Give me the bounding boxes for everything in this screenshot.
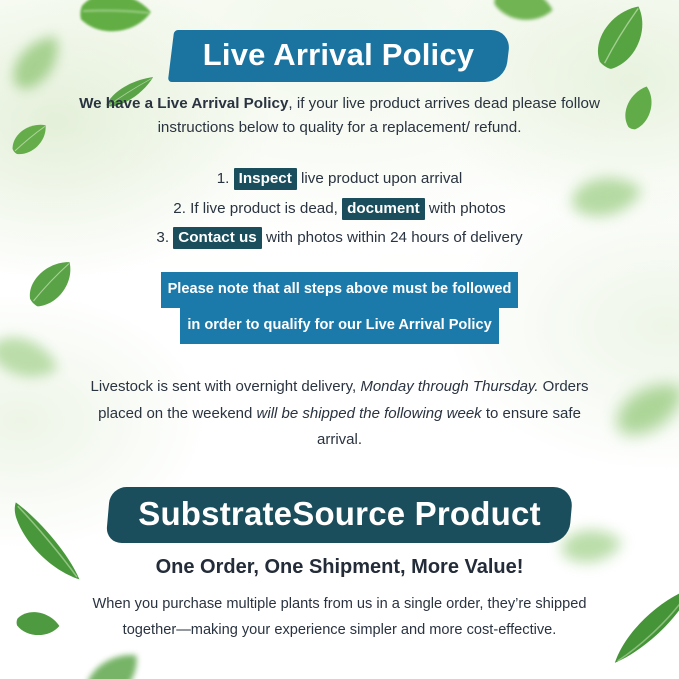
value-subheading: One Order, One Shipment, More Value!: [0, 556, 679, 579]
step-number: 2.: [173, 200, 186, 217]
steps-list: 1. Inspect live product upon arrival 2. …: [0, 164, 679, 253]
value-paragraph: When you purchase multiple plants from u…: [0, 592, 679, 643]
policy-note-line-2: in order to qualify for our Live Arrival…: [180, 308, 498, 344]
substrate-source-banner: SubstrateSource Product: [108, 487, 571, 543]
list-item: 2. If live product is dead, document wit…: [0, 194, 679, 224]
shipping-line1-plain: Livestock is sent with overnight deliver…: [90, 378, 360, 395]
step-suffix: with photos within 24 hours of delivery: [262, 229, 523, 246]
shipping-paragraph: Livestock is sent with overnight deliver…: [0, 374, 679, 454]
live-arrival-banner-title: Live Arrival Policy: [203, 37, 474, 72]
live-arrival-policy-infographic: Live Arrival Policy We have a Live Arriv…: [0, 0, 679, 679]
live-arrival-banner: Live Arrival Policy: [171, 30, 508, 82]
step-highlight-document: document: [342, 198, 425, 220]
substrate-source-banner-wrap: SubstrateSource Product: [0, 487, 679, 543]
intro-lead-text: We have a Live Arrival Policy: [79, 95, 288, 112]
step-suffix: live product upon arrival: [297, 170, 462, 187]
step-number: 3.: [156, 229, 169, 246]
step-highlight-contact-us: Contact us: [173, 227, 261, 249]
policy-note-line-1: Please note that all steps above must be…: [161, 272, 519, 308]
content-layer: Live Arrival Policy We have a Live Arriv…: [0, 0, 679, 679]
step-prefix: If live product is dead,: [186, 200, 342, 217]
list-item: 3. Contact us with photos within 24 hour…: [0, 223, 679, 253]
step-number: 1.: [217, 170, 230, 187]
intro-paragraph: We have a Live Arrival Policy, if your l…: [0, 92, 679, 139]
step-highlight-inspect: Inspect: [234, 168, 297, 190]
step-suffix: with photos: [425, 200, 506, 217]
shipping-line1-italic: Monday through Thursday.: [360, 378, 538, 395]
policy-note-block: Please note that all steps above must be…: [0, 272, 679, 344]
policy-note-line-1-wrap: Please note that all steps above must be…: [0, 272, 679, 308]
list-item: 1. Inspect live product upon arrival: [0, 164, 679, 194]
substrate-source-banner-title: SubstrateSource Product: [138, 495, 541, 532]
live-arrival-banner-wrap: Live Arrival Policy: [0, 30, 679, 82]
shipping-line2-italic: will be shipped the following week: [257, 405, 482, 422]
policy-note-line-2-wrap: in order to qualify for our Live Arrival…: [0, 308, 679, 344]
